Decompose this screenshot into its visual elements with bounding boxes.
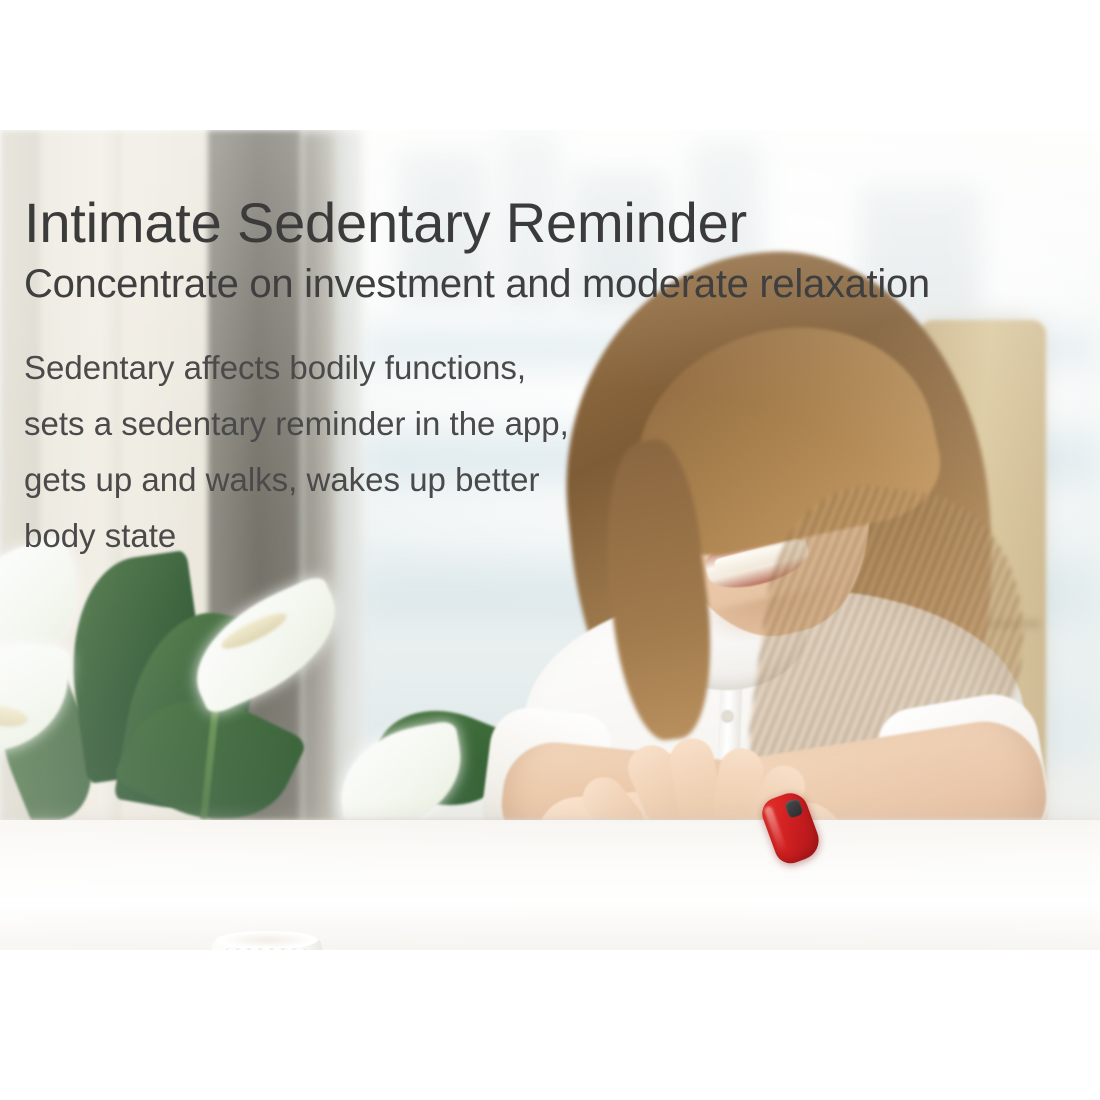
blouse-button xyxy=(722,710,733,721)
desk-surface xyxy=(0,820,1100,950)
teacup xyxy=(212,936,322,950)
letterbox-bar-bottom xyxy=(0,950,1100,1100)
product-lifestyle-photo xyxy=(0,130,1100,950)
marketing-banner: Intimate Sedentary Reminder Concentrate … xyxy=(0,0,1100,1100)
distant-building-icon xyxy=(400,152,486,302)
letterbox-bar-top xyxy=(0,0,1100,130)
